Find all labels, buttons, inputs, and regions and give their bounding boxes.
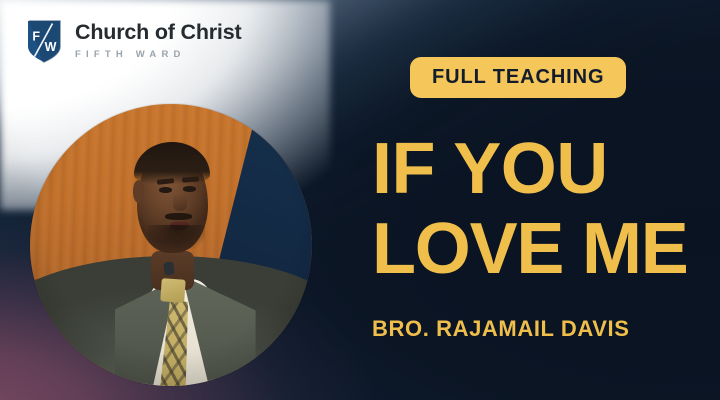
shield-fw-monogram-icon: F W (26, 19, 62, 64)
full-teaching-badge: FULL TEACHING (410, 57, 626, 98)
sermon-title: IF YOU LOVE ME (372, 134, 708, 286)
svg-text:F: F (32, 30, 40, 44)
brand-logo-lockup: F W Church of Christ FIFTH WARD (26, 19, 241, 64)
brand-title: Church of Christ (75, 22, 241, 44)
speaker-name: BRO. RAJAMAIL DAVIS (372, 318, 630, 340)
portrait-vignette (30, 104, 312, 386)
full-teaching-badge-label: FULL TEACHING (432, 67, 604, 87)
brand-subtitle: FIFTH WARD (75, 50, 241, 60)
sermon-title-line-1: IF YOU (372, 134, 708, 205)
video-thumbnail: F W Church of Christ FIFTH WARD (0, 0, 720, 400)
speaker-portrait (30, 104, 312, 386)
brand-wordmark: Church of Christ FIFTH WARD (75, 22, 241, 61)
svg-text:W: W (45, 40, 57, 54)
sermon-title-line-2: LOVE ME (372, 214, 708, 285)
